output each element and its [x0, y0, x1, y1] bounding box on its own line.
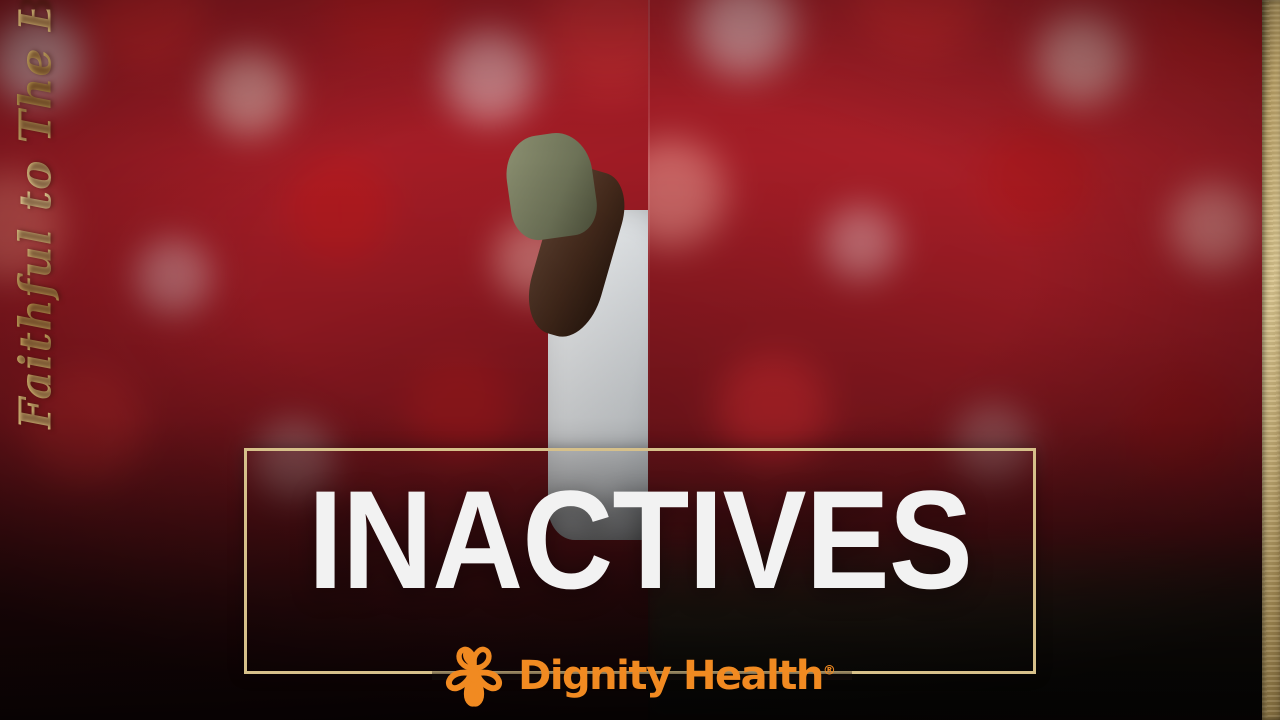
- faithful-to-the-bay-script: Faithful to The Bay: [0, 0, 58, 466]
- sponsor-name: Dignity Health®: [518, 653, 836, 699]
- page-title: INACTIVES: [284, 470, 997, 610]
- brand-script-text: Faithful to The Bay: [11, 10, 62, 430]
- graphic-canvas: 49ERS 98 SF: [0, 0, 1280, 720]
- registered-trademark-icon: ®: [823, 664, 836, 679]
- sponsor-name-text: Dignity Health: [518, 653, 823, 699]
- dignity-health-mark-icon: [444, 645, 504, 707]
- sponsor-logo: Dignity Health®: [0, 645, 1280, 707]
- gold-edge-strip: [1262, 0, 1280, 720]
